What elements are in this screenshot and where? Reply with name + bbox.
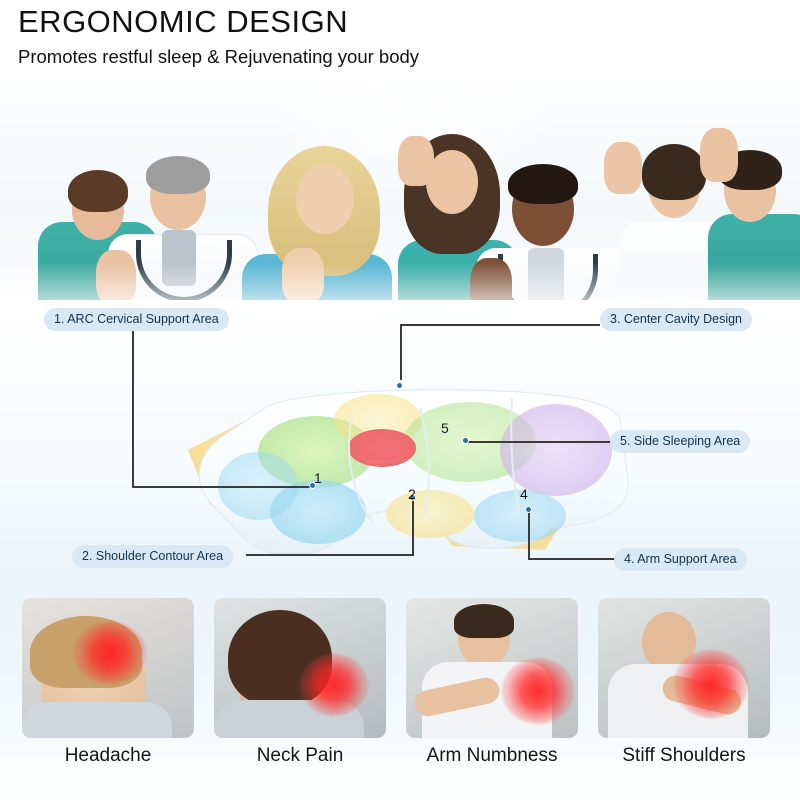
leader-line-3-h <box>400 324 600 326</box>
page-header: ERGONOMIC DESIGN Promotes restful sleep … <box>0 0 800 68</box>
thumb-up-person-7 <box>700 128 738 182</box>
page-title: ERGONOMIC DESIGN <box>18 6 800 39</box>
marker-dot-4 <box>525 506 532 513</box>
person-2-hair <box>146 156 210 194</box>
leader-line-2-v <box>412 498 414 556</box>
leader-line-4-v <box>528 510 530 560</box>
marker-dot-3 <box>396 382 403 389</box>
person-3-face <box>296 164 354 234</box>
pillow-marker-3: 3 <box>376 370 384 386</box>
symptom-card-neck-pain <box>214 598 386 738</box>
pain-indicator-neck <box>300 654 368 716</box>
pillow-marker-5: 5 <box>441 420 449 436</box>
symptom-label-stiff-shoulders: Stiff Shoulders <box>598 745 770 767</box>
leader-line-2-h <box>246 554 414 556</box>
symptom-card-arm-numbness <box>406 598 578 738</box>
leader-line-3-v <box>400 324 402 380</box>
symptom-cards: Headache Neck Pain Arm Numbness Stiff Sh… <box>0 585 800 800</box>
marker-dot-5 <box>462 437 469 444</box>
callout-1-arc-cervical-support-area: 1. ARC Cervical Support Area <box>44 308 229 331</box>
person-5-hair <box>508 164 578 204</box>
leader-line-5-h <box>466 441 614 443</box>
doctors-photo <box>0 72 800 322</box>
callout-5-side-sleeping-area: 5. Side Sleeping Area <box>610 430 750 453</box>
person-6-hair <box>642 144 706 200</box>
symptom-card-headache <box>22 598 194 738</box>
symptom-card-stiff-shoulders <box>598 598 770 738</box>
callout-4-arm-support-area: 4. Arm Support Area <box>614 548 747 571</box>
pillow-marker-1: 1 <box>314 470 322 486</box>
pain-indicator-arm <box>502 658 574 724</box>
symptom-label-neck-pain: Neck Pain <box>214 745 386 767</box>
leader-line-1-h <box>132 324 134 486</box>
pillow-marker-2: 2 <box>408 486 416 502</box>
pillow-marker-4: 4 <box>520 486 528 502</box>
leader-line-1-b <box>132 486 312 488</box>
leader-line-4-h <box>528 558 618 560</box>
arm-hair <box>454 604 514 638</box>
pain-indicator-shoulder <box>674 650 748 718</box>
pillow-diagram: 1 2 3 4 5 1. ARC Cervical Support Area 3… <box>0 300 800 590</box>
thumb-up-person-6 <box>604 142 642 194</box>
person-1-hair <box>68 170 128 212</box>
callout-3-center-cavity-design: 3. Center Cavity Design <box>600 308 752 331</box>
page-subtitle: Promotes restful sleep & Rejuvenating yo… <box>18 46 800 68</box>
headache-shirt <box>22 702 172 738</box>
symptom-label-headache: Headache <box>22 745 194 767</box>
thumb-up-person-4 <box>398 136 434 186</box>
symptom-label-arm-numbness: Arm Numbness <box>406 745 578 767</box>
pain-indicator-head <box>74 622 146 684</box>
callout-2-shoulder-contour-area: 2. Shoulder Contour Area <box>72 545 233 568</box>
